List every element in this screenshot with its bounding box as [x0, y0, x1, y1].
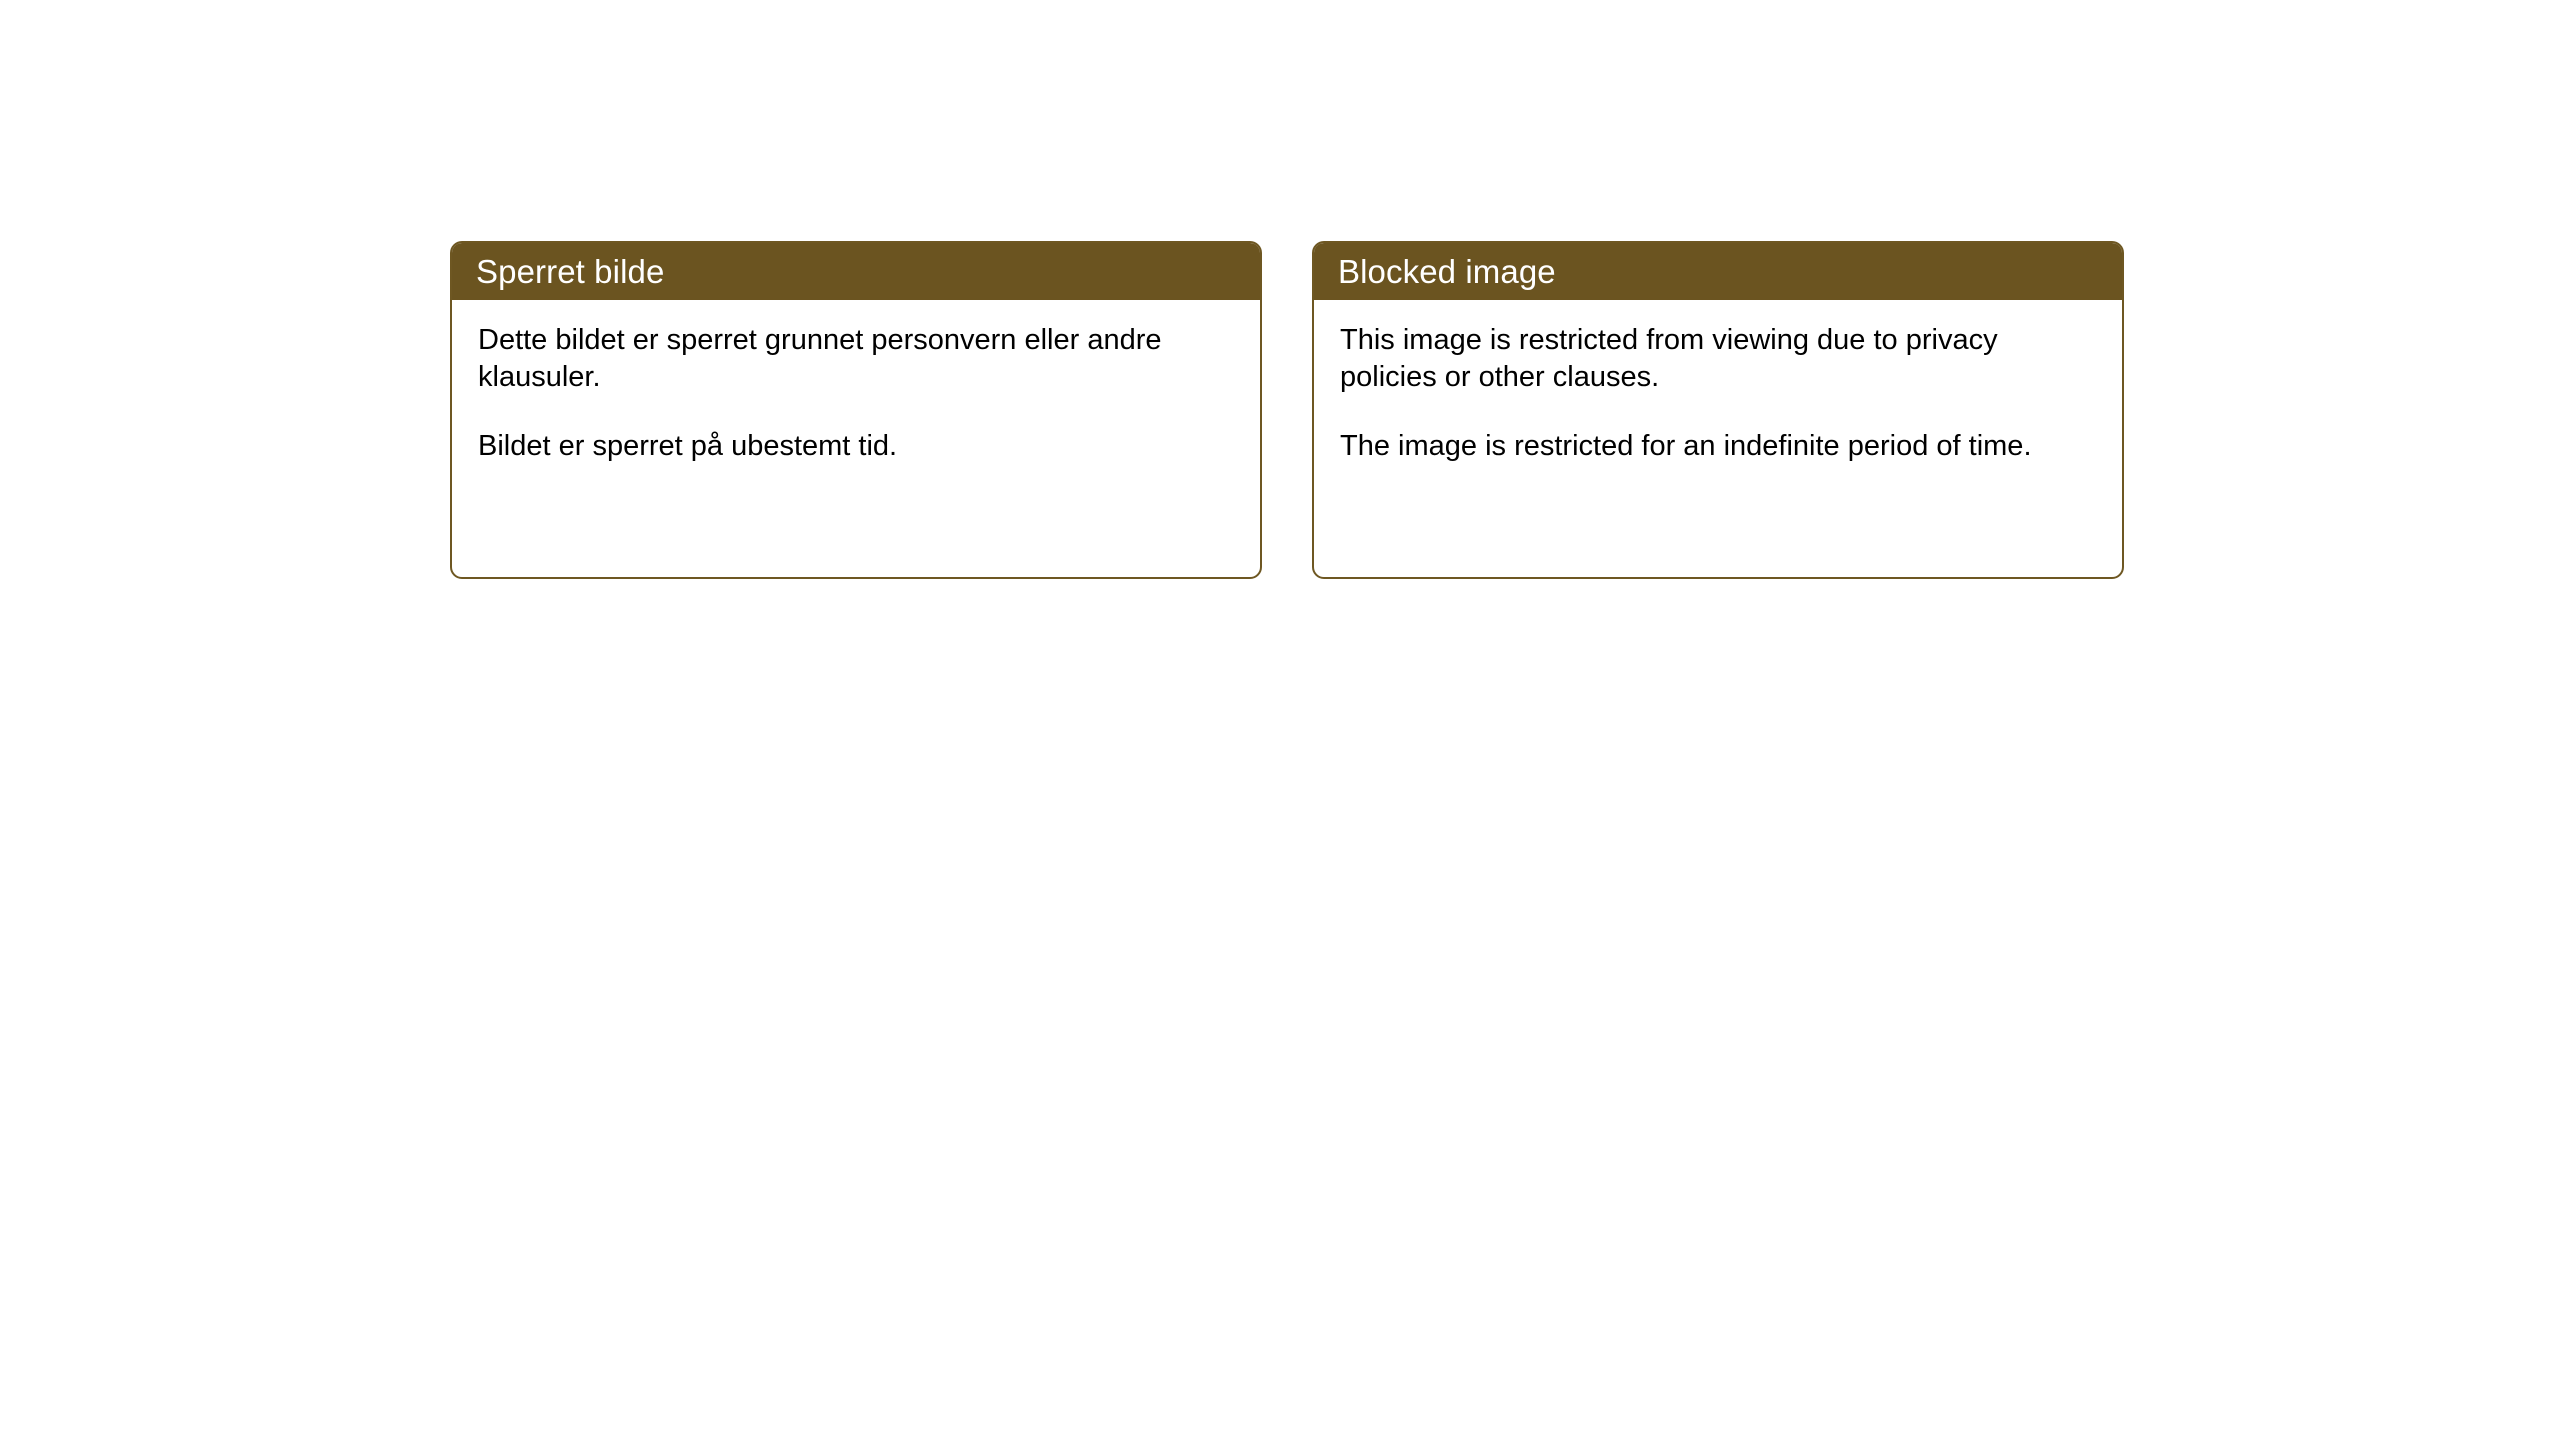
card-title-english: Blocked image — [1338, 255, 1556, 288]
card-header-norwegian: Sperret bilde — [452, 243, 1260, 300]
blocked-image-card-norwegian: Sperret bilde Dette bildet er sperret gr… — [450, 241, 1262, 579]
card-paragraph-primary-norwegian: Dette bildet er sperret grunnet personve… — [478, 322, 1234, 396]
page-canvas: Sperret bilde Dette bildet er sperret gr… — [0, 0, 2560, 1440]
card-paragraph-primary-english: This image is restricted from viewing du… — [1340, 322, 2096, 396]
paragraph-spacer — [478, 396, 1234, 428]
card-header-english: Blocked image — [1314, 243, 2122, 300]
blocked-image-card-english: Blocked image This image is restricted f… — [1312, 241, 2124, 579]
card-paragraph-secondary-english: The image is restricted for an indefinit… — [1340, 428, 2096, 465]
card-body-norwegian: Dette bildet er sperret grunnet personve… — [452, 300, 1260, 465]
card-paragraph-secondary-norwegian: Bildet er sperret på ubestemt tid. — [478, 428, 1234, 465]
card-title-norwegian: Sperret bilde — [476, 255, 664, 288]
paragraph-spacer — [1340, 396, 2096, 428]
card-body-english: This image is restricted from viewing du… — [1314, 300, 2122, 465]
